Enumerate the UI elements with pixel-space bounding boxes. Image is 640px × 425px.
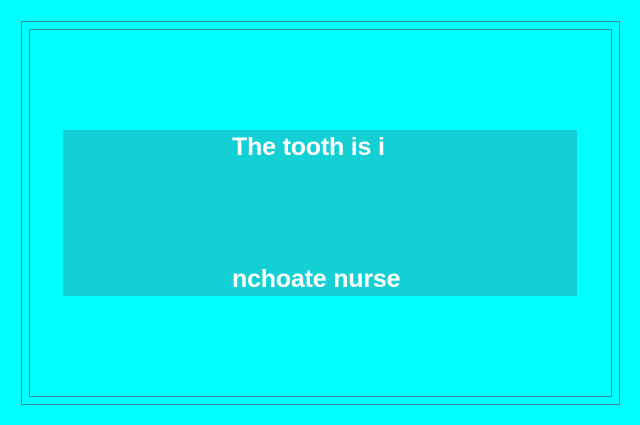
message-line-2: nchoate nurse (232, 257, 577, 301)
text-panel: The tooth is i nchoate nurse (63, 130, 577, 296)
message-text: The tooth is i nchoate nurse (63, 37, 577, 389)
message-line-1: The tooth is i (232, 125, 577, 169)
image-canvas: The tooth is i nchoate nurse (0, 0, 640, 425)
